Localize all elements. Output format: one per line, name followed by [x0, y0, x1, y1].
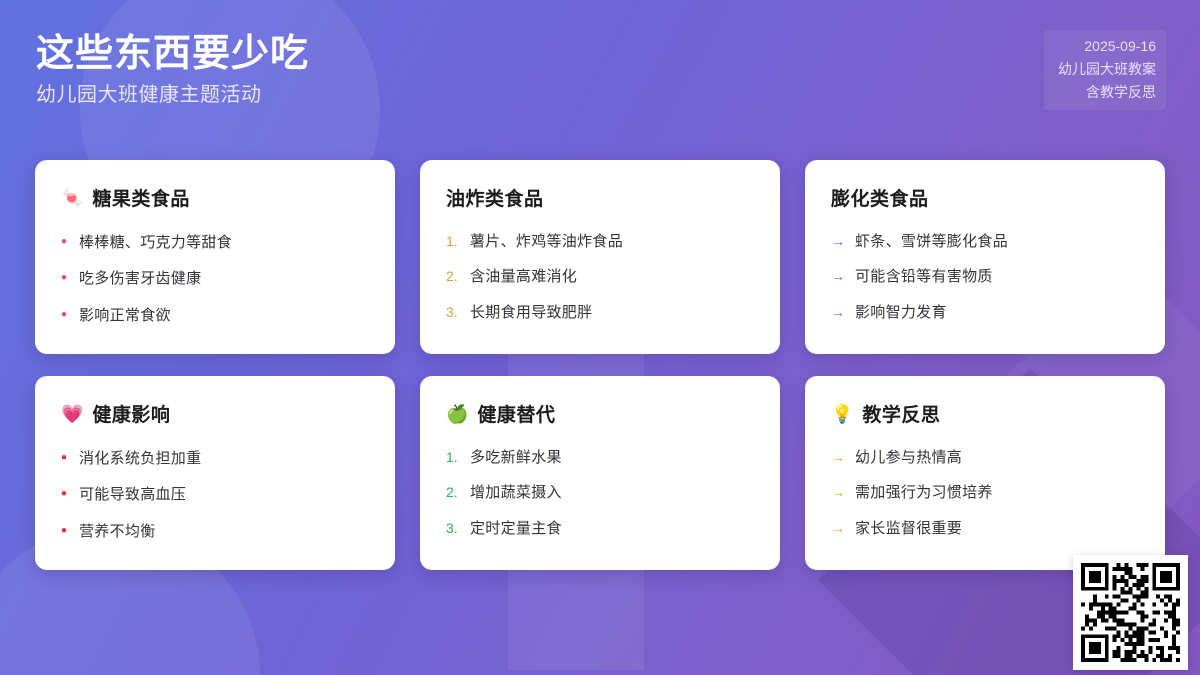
list-item: •消化系统负担加重 [61, 443, 369, 474]
meta-date: 2025-09-16 [1084, 36, 1156, 56]
list-marker-arrow: → [831, 484, 846, 501]
slide-header: 这些东西要少吃 幼儿园大班健康主题活动 2025-09-16 幼儿园大班教案 含… [0, 0, 1200, 140]
list-marker-dot: • [61, 232, 70, 252]
list-item: •吃多伤害牙齿健康 [61, 263, 369, 294]
card-header: 油炸类食品 [446, 184, 754, 211]
list-item: 2.含油量高难消化 [446, 262, 754, 292]
card-list: 1.薯片、炸鸡等油炸食品2.含油量高难消化3.长期食用导致肥胖 [446, 227, 754, 328]
list-marker-number: 2. [446, 268, 461, 285]
card-header: 💗健康影响 [61, 400, 369, 427]
list-item-text: 吃多伤害牙齿健康 [79, 269, 201, 289]
card-list: •棒棒糖、巧克力等甜食•吃多伤害牙齿健康•影响正常食欲 [61, 227, 369, 331]
content-card: 油炸类食品1.薯片、炸鸡等油炸食品2.含油量高难消化3.长期食用导致肥胖 [420, 160, 780, 354]
list-item: →虾条、雪饼等膨化食品 [831, 227, 1139, 257]
list-item: •棒棒糖、巧克力等甜食 [61, 227, 369, 258]
list-item-text: 营养不均衡 [79, 522, 156, 542]
list-item: •影响正常食欲 [61, 300, 369, 331]
list-item: •营养不均衡 [61, 516, 369, 547]
card-title: 健康替代 [477, 400, 555, 427]
green-apple-icon: 🍏 [446, 405, 468, 423]
list-marker-number: 2. [446, 484, 461, 501]
card-list: →虾条、雪饼等膨化食品→可能含铅等有害物质→影响智力发育 [831, 227, 1139, 328]
candy-cane-icon: 🍬 [61, 189, 83, 207]
list-item-text: 薯片、炸鸡等油炸食品 [470, 232, 623, 252]
page-title: 这些东西要少吃 [36, 33, 309, 77]
qr-code[interactable] [1073, 555, 1188, 670]
list-item-text: 增加蔬菜摄入 [470, 483, 562, 503]
list-item-text: 影响智力发育 [855, 303, 947, 323]
list-item-text: 含油量高难消化 [470, 267, 577, 287]
title-block: 这些东西要少吃 幼儿园大班健康主题活动 [36, 33, 309, 107]
card-header: 膨化类食品 [831, 184, 1139, 211]
meta-block: 2025-09-16 幼儿园大班教案 含教学反思 [1044, 30, 1166, 111]
list-item: •可能导致高血压 [61, 479, 369, 510]
list-marker-dot: • [61, 521, 70, 541]
list-marker-number: 1. [446, 233, 461, 250]
list-item: 3.长期食用导致肥胖 [446, 298, 754, 328]
list-item-text: 消化系统负担加重 [79, 449, 201, 469]
list-item-text: 影响正常食欲 [79, 306, 171, 326]
list-marker-arrow: → [831, 520, 846, 537]
card-title: 健康影响 [92, 400, 170, 427]
list-marker-number: 1. [446, 449, 461, 466]
list-marker-arrow: → [831, 304, 846, 321]
meta-category: 幼儿园大班教案 [1058, 59, 1156, 79]
heart-pulse-icon: 💗 [61, 405, 83, 423]
list-item-text: 需加强行为习惯培养 [855, 483, 993, 503]
card-header: 🍬糖果类食品 [61, 184, 369, 211]
list-item-text: 可能含铅等有害物质 [855, 267, 993, 287]
content-card: 💗健康影响•消化系统负担加重•可能导致高血压•营养不均衡 [35, 376, 395, 570]
list-item-text: 虾条、雪饼等膨化食品 [855, 232, 1008, 252]
card-title: 膨化类食品 [831, 184, 929, 211]
card-list: 1.多吃新鲜水果2.增加蔬菜摄入3.定时定量主食 [446, 443, 754, 544]
list-marker-number: 3. [446, 304, 461, 321]
list-item-text: 长期食用导致肥胖 [470, 303, 592, 323]
page-subtitle: 幼儿园大班健康主题活动 [36, 83, 309, 107]
list-item: →可能含铅等有害物质 [831, 262, 1139, 292]
list-item: 3.定时定量主食 [446, 514, 754, 544]
card-grid: 🍬糖果类食品•棒棒糖、巧克力等甜食•吃多伤害牙齿健康•影响正常食欲油炸类食品1.… [35, 160, 1165, 570]
list-item-text: 可能导致高血压 [79, 485, 186, 505]
slide-root: 这些东西要少吃 幼儿园大班健康主题活动 2025-09-16 幼儿园大班教案 含… [0, 0, 1200, 675]
list-item-text: 定时定量主食 [470, 519, 562, 539]
card-list: •消化系统负担加重•可能导致高血压•营养不均衡 [61, 443, 369, 547]
card-header: 🍏健康替代 [446, 400, 754, 427]
list-marker-arrow: → [831, 268, 846, 285]
list-item: →家长监督很重要 [831, 514, 1139, 544]
card-header: 💡教学反思 [831, 400, 1139, 427]
list-item-text: 家长监督很重要 [855, 519, 962, 539]
content-card: 🍏健康替代1.多吃新鲜水果2.增加蔬菜摄入3.定时定量主食 [420, 376, 780, 570]
content-card: 🍬糖果类食品•棒棒糖、巧克力等甜食•吃多伤害牙齿健康•影响正常食欲 [35, 160, 395, 354]
list-marker-arrow: → [831, 449, 846, 466]
content-card: 膨化类食品→虾条、雪饼等膨化食品→可能含铅等有害物质→影响智力发育 [805, 160, 1165, 354]
list-marker-dot: • [61, 448, 70, 468]
content-card: 💡教学反思→幼儿参与热情高→需加强行为习惯培养→家长监督很重要 [805, 376, 1165, 570]
card-title: 教学反思 [862, 400, 940, 427]
list-item-text: 幼儿参与热情高 [855, 448, 962, 468]
list-marker-dot: • [61, 305, 70, 325]
lightbulb-icon: 💡 [831, 405, 853, 423]
card-list: →幼儿参与热情高→需加强行为习惯培养→家长监督很重要 [831, 443, 1139, 544]
list-item: →需加强行为习惯培养 [831, 478, 1139, 508]
list-item: 1.薯片、炸鸡等油炸食品 [446, 227, 754, 257]
list-item: →幼儿参与热情高 [831, 443, 1139, 473]
list-item-text: 棒棒糖、巧克力等甜食 [79, 233, 232, 253]
list-item-text: 多吃新鲜水果 [470, 448, 562, 468]
list-marker-dot: • [61, 268, 70, 288]
meta-note: 含教学反思 [1086, 82, 1156, 102]
qr-code-image [1081, 563, 1180, 662]
list-marker-dot: • [61, 484, 70, 504]
list-item: 1.多吃新鲜水果 [446, 443, 754, 473]
list-item: 2.增加蔬菜摄入 [446, 478, 754, 508]
card-title: 糖果类食品 [92, 184, 190, 211]
list-marker-arrow: → [831, 233, 846, 250]
list-item: →影响智力发育 [831, 298, 1139, 328]
card-title: 油炸类食品 [446, 184, 544, 211]
list-marker-number: 3. [446, 520, 461, 537]
